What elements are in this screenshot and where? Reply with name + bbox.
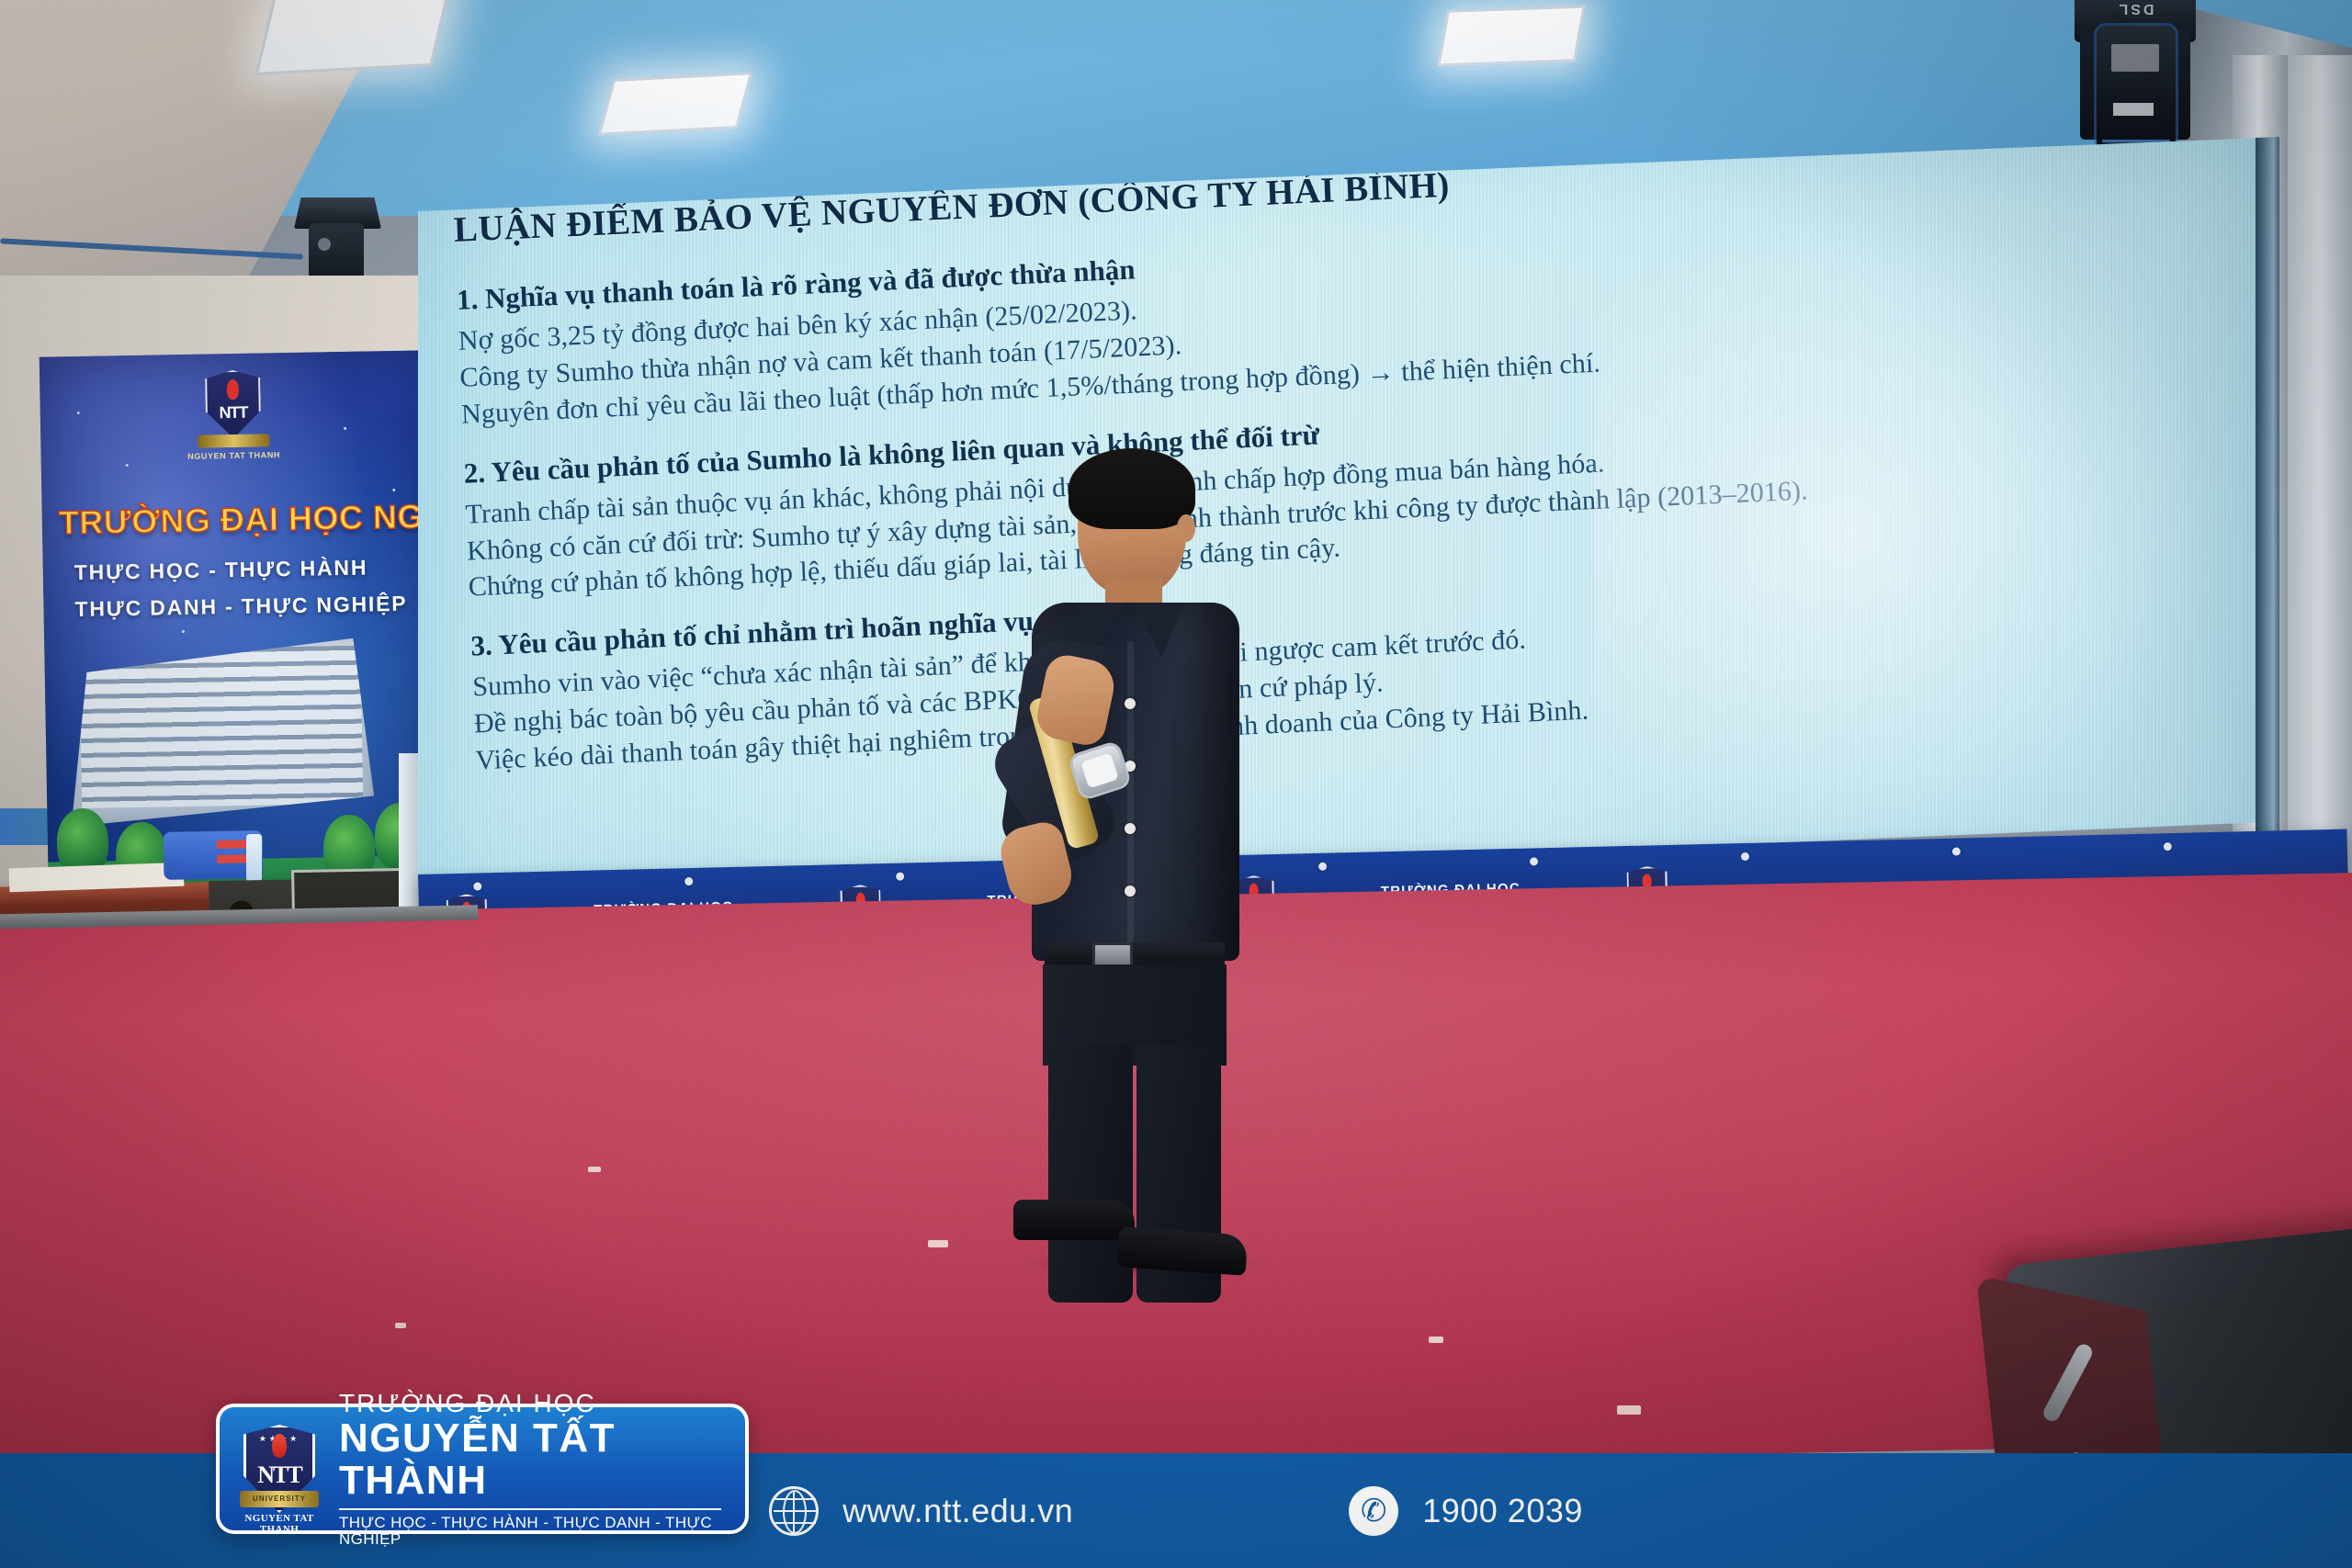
shield-ribbon-text: UNIVERSITY xyxy=(240,1491,319,1507)
building-floors xyxy=(79,646,363,808)
plaque-line-1: TRƯỜNG ĐẠI HỌC xyxy=(339,1390,721,1417)
light-brand-badge xyxy=(2113,103,2154,116)
backdrop-campus-building xyxy=(68,637,374,827)
shield-initials: NTT xyxy=(208,403,259,423)
water-bottle xyxy=(246,834,262,882)
backdrop-motto-line2: THỰC DANH - THỰC NGHIỆP xyxy=(74,592,407,622)
phone-icon: ✆ xyxy=(1349,1486,1398,1536)
globe-icon xyxy=(769,1486,819,1536)
ceiling-panel-light xyxy=(597,72,752,136)
floor-debris xyxy=(1429,1337,1443,1343)
plaque-line-2: NGUYỄN TẤT THÀNH xyxy=(339,1417,721,1503)
presentation-slide: LUẬN ĐIỂM BẢO VỆ NGUYÊN ĐƠN (CÔNG TY HẢI… xyxy=(453,128,2278,852)
floor-debris xyxy=(395,1323,406,1328)
led-screen: LUẬN ĐIỂM BẢO VỆ NGUYÊN ĐƠN (CÔNG TY HẢI… xyxy=(418,138,2265,900)
flame-icon xyxy=(227,379,239,400)
light-spec-plate xyxy=(2111,44,2159,72)
backdrop-shield-subname: NGUYEN TAT THANH xyxy=(41,447,427,463)
flame-icon xyxy=(272,1434,287,1458)
presenter-shoe xyxy=(1013,1200,1135,1240)
shield-initials: NTT xyxy=(243,1461,315,1489)
led-screen-surface: LUẬN ĐIỂM BẢO VỆ NGUYÊN ĐƠN (CÔNG TY HẢI… xyxy=(418,138,2265,900)
backdrop-shield-logo: NTT xyxy=(205,370,261,439)
presenter xyxy=(997,457,1263,1258)
screen-right-edge xyxy=(2256,137,2279,836)
presenter-ear xyxy=(1177,514,1195,542)
presentation-photo-scene: DSL NTT NGUYEN TAT THANH TRƯỜNG ĐẠI HỌC … xyxy=(0,0,2352,1568)
backdrop-motto-line1: THỰC HỌC - THỰC HÀNH xyxy=(74,556,368,586)
floor-debris xyxy=(588,1167,601,1172)
ntt-shield-logo: ★★★★ NTT UNIVERSITY NGUYEN TAT THANH xyxy=(243,1425,315,1513)
shield-ribbon: UNIVERSITY xyxy=(240,1491,319,1507)
plaque-line-3: THỰC HỌC - THỰC HÀNH - THỰC DANH - THỰC … xyxy=(339,1515,721,1548)
camera-lens-icon xyxy=(318,238,331,251)
shield-subname: NGUYEN TAT THANH xyxy=(229,1513,330,1535)
floor-debris xyxy=(1617,1405,1641,1415)
presenter-hair xyxy=(1069,448,1195,529)
plaque-divider xyxy=(339,1508,721,1510)
footer-phone-item[interactable]: ✆ 1900 2039 xyxy=(1349,1486,1583,1536)
plaque-text-block: TRƯỜNG ĐẠI HỌC NGUYỄN TẤT THÀNH THỰC HỌC… xyxy=(339,1390,721,1548)
floor-debris xyxy=(928,1240,948,1247)
backdrop-ribbon xyxy=(198,434,269,447)
footer-website-text[interactable]: www.ntt.edu.vn xyxy=(842,1492,1073,1530)
ntt-logo-plaque: ★★★★ NTT UNIVERSITY NGUYEN TAT THANH TRƯ… xyxy=(216,1404,749,1534)
footer-phone-text[interactable]: 1900 2039 xyxy=(1422,1492,1583,1530)
moving-light-brand-label: DSL xyxy=(2087,0,2183,17)
ceiling-panel-light xyxy=(255,0,453,75)
presenter-shirt-placket xyxy=(1127,641,1134,953)
footer-website-item[interactable]: www.ntt.edu.vn xyxy=(769,1486,1073,1536)
ceiling-panel-light xyxy=(1437,5,1586,66)
backdrop-title: TRƯỜNG ĐẠI HỌC NGUYỄN TẤT THÀNH xyxy=(58,495,435,542)
